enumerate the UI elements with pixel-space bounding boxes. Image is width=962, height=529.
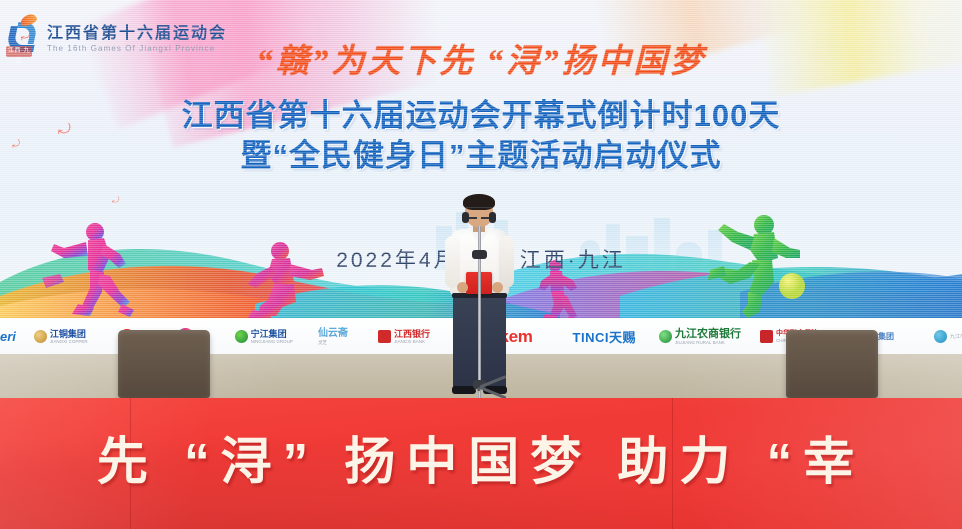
speaker-arm-right xyxy=(499,236,514,288)
sponsor-name: 江西银行 xyxy=(394,329,430,339)
sponsor-mark-icon xyxy=(378,330,391,343)
microphone-clamp xyxy=(472,250,487,259)
sponsor-mark-icon xyxy=(34,330,47,343)
sponsor-logo: 九江农商银行 JIUJIANG RURAL BANK xyxy=(650,319,750,355)
chair-right xyxy=(786,330,878,398)
red-banner-text: 先 “浔” 扬中国梦 助力 “幸 xyxy=(0,420,962,494)
sponsor-subname: NINGJIANG GROUP xyxy=(251,339,293,344)
sponsor-logo: 宁江集团 NINGJIANG GROUP xyxy=(226,319,302,355)
sponsor-name: 江铜集团 xyxy=(50,329,88,339)
sponsor-subname: JIANGXI BANK xyxy=(394,339,430,344)
sponsor-name: 宁江集团 xyxy=(251,329,293,339)
speaker-hand-left xyxy=(457,282,468,293)
sponsor-subname: JIANGXI COPPER xyxy=(50,339,88,344)
sponsor-logo: 九江市城建投资发展集团有限公司 xyxy=(928,319,962,355)
stage-photo: ⤾ ⤾ ⤾ ⤾ xyxy=(0,0,962,529)
speaker-hand-right xyxy=(492,282,503,293)
main-title-line-2: 暨“全民健身日”主题活动启动仪式 xyxy=(0,136,962,176)
sponsor-mark-icon xyxy=(235,330,248,343)
sponsor-name: 仙云斋 xyxy=(318,328,348,340)
sponsor-subname: JIUJIANG RURAL BANK xyxy=(675,340,741,345)
speaker-arm-left xyxy=(445,236,460,288)
sponsor-name: 九江农商银行 xyxy=(675,328,741,341)
sponsor-name: TINCI天赐 xyxy=(573,327,636,346)
sponsor-mark-icon xyxy=(659,330,672,343)
main-title: 江西省第十六届运动会开幕式倒计时100天 暨“全民健身日”主题活动启动仪式 xyxy=(0,96,962,175)
sponsor-name: eri xyxy=(0,329,16,344)
sponsor-logo: eri xyxy=(0,319,25,355)
sponsor-name: 九江市城建投资发展集团有限公司 xyxy=(950,333,962,340)
red-banner: 先 “浔” 扬中国梦 助力 “幸 xyxy=(0,398,962,529)
sponsor-mark-icon xyxy=(760,330,773,343)
sponsor-logo: 仙云斋 灵芝 xyxy=(302,319,364,355)
calligraphy-headline: “赣”为天下先 “浔”扬中国梦 xyxy=(0,34,962,82)
sponsor-mark-icon xyxy=(934,330,947,343)
sponsor-logo: 江铜集团 JIANGXI COPPER xyxy=(25,319,97,355)
sponsor-logo: 江西银行 JIANGXI BANK xyxy=(364,319,444,355)
sponsor-logo: TINCI天赐 xyxy=(559,319,650,355)
chair-left xyxy=(118,330,210,398)
main-title-line-1: 江西省第十六届运动会开幕式倒计时100天 xyxy=(0,96,962,136)
sponsor-subname: 灵芝 xyxy=(318,340,348,345)
